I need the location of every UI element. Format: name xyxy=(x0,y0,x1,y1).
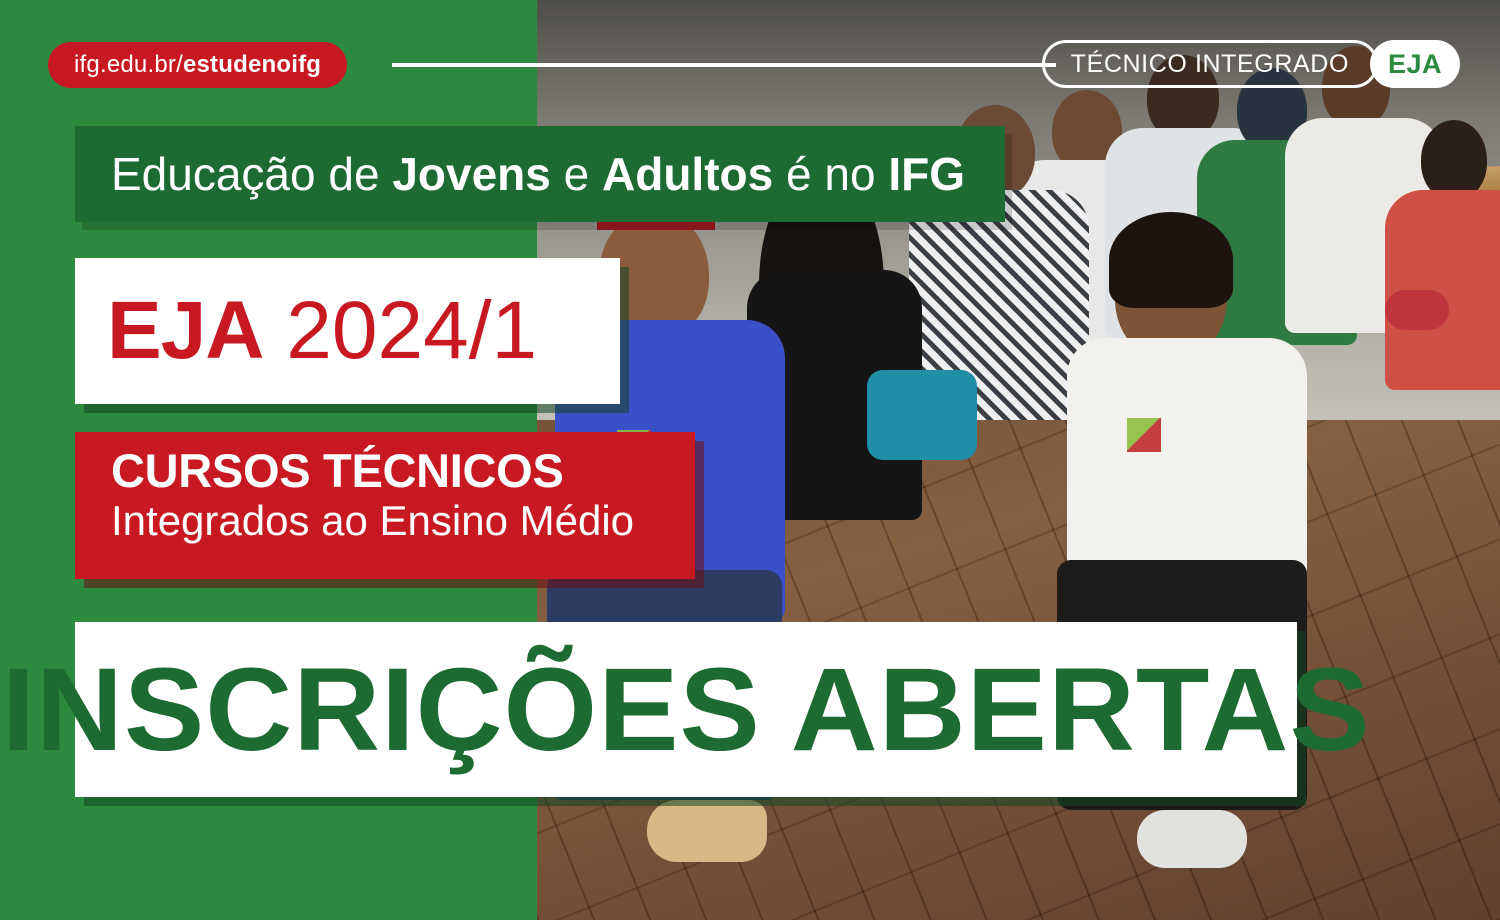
photo-student-hair xyxy=(1109,212,1233,308)
url-prefix: ifg.edu.br/ xyxy=(74,51,183,79)
edition-block: EJA 2024/1 xyxy=(75,258,620,404)
website-url-pill[interactable]: ifg.edu.br/estudenoifg xyxy=(48,42,347,88)
photo-shoe xyxy=(1385,290,1449,330)
url-path: estudenoifg xyxy=(183,51,321,79)
photo-shoe xyxy=(647,800,767,862)
eja-promo-banner: ifg.edu.br/estudenoifg TÉCNICO INTEGRADO… xyxy=(0,0,1500,920)
badge-eja: EJA xyxy=(1370,40,1460,88)
headline-text: Educação de Jovens e Adultos é no IFG xyxy=(111,151,965,197)
badge-tecnico-integrado: TÉCNICO INTEGRADO xyxy=(1042,40,1378,88)
photo-ifg-shirt-logo xyxy=(1127,418,1161,452)
photo-shoe xyxy=(1137,810,1247,868)
header-divider-rule xyxy=(392,63,1056,67)
headline-bold-adultos: Adultos xyxy=(602,148,773,200)
courses-title: CURSOS TÉCNICOS xyxy=(111,446,695,495)
courses-block: CURSOS TÉCNICOS Integrados ao Ensino Méd… xyxy=(75,432,695,579)
headline-bold-jovens: Jovens xyxy=(392,148,551,200)
photo-student-head xyxy=(1421,120,1487,200)
badge-tecnico-integrado-label: TÉCNICO INTEGRADO xyxy=(1071,50,1349,79)
headline-band: Educação de Jovens e Adultos é no IFG xyxy=(75,126,1005,222)
headline-part-1: Educação de xyxy=(111,148,392,200)
edition-text: EJA 2024/1 xyxy=(107,290,537,372)
cta-label: INSCRIÇÕES ABERTAS xyxy=(1,651,1370,769)
headline-bold-ifg: IFG xyxy=(888,148,965,200)
badge-eja-label: EJA xyxy=(1388,49,1442,80)
edition-year: 2024/1 xyxy=(264,285,538,376)
headline-part-3: é no xyxy=(773,148,888,200)
photo-bag xyxy=(867,370,977,460)
edition-name: EJA xyxy=(107,285,264,376)
headline-part-2: e xyxy=(551,148,602,200)
courses-subtitle: Integrados ao Ensino Médio xyxy=(111,497,695,545)
cta-block: INSCRIÇÕES ABERTAS xyxy=(75,622,1297,797)
